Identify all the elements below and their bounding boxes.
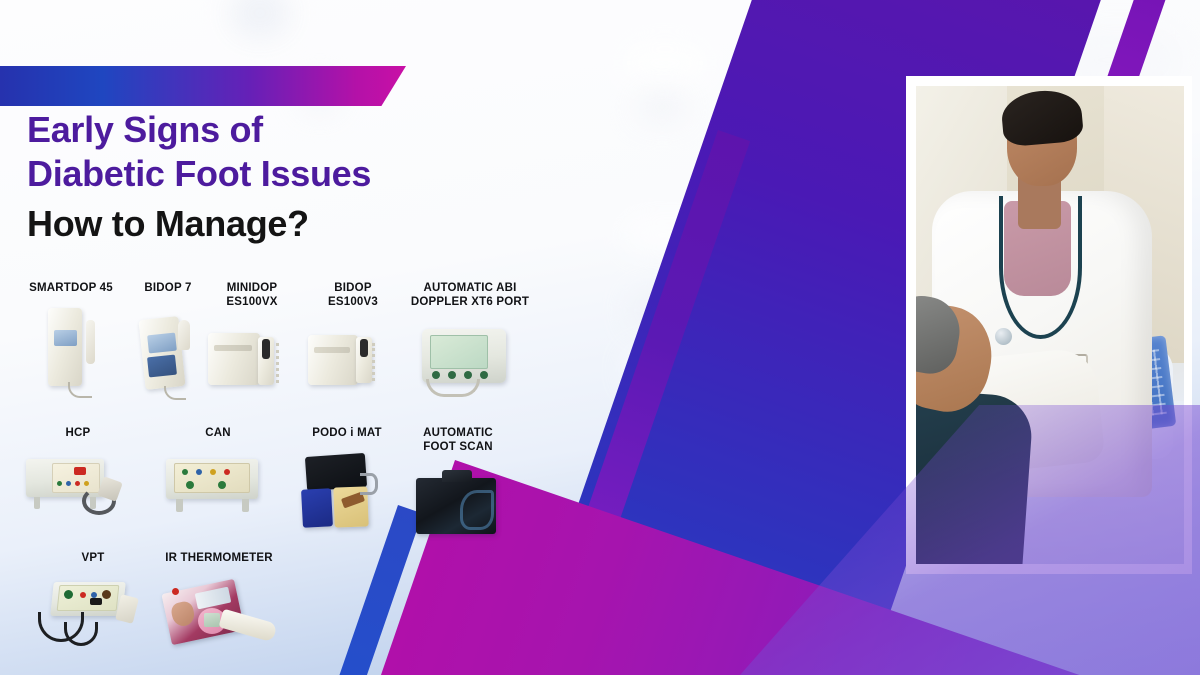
product-item[interactable]: AUTOMATIC FOOT SCAN (398, 427, 518, 542)
product-image-minidop-es100vx (196, 315, 308, 403)
background-blur-shape (620, 40, 710, 86)
product-image-can (156, 447, 280, 529)
product-image-abi-doppler-xt6 (396, 315, 544, 401)
stethoscope-icon (999, 196, 1082, 339)
background-blur-shape (230, 0, 290, 38)
product-item[interactable]: IR THERMOMETER (146, 552, 292, 656)
product-label: SMARTDOP 45 (12, 282, 130, 296)
product-label: CAN (156, 427, 280, 441)
product-item[interactable]: MINIDOP ES100VX (196, 282, 308, 403)
product-image-vpt (34, 572, 152, 656)
product-item[interactable]: PODO i MAT (292, 427, 402, 529)
product-item[interactable]: SMARTDOP 45 (12, 282, 130, 404)
headline-line-3: How to Manage? (27, 201, 371, 248)
patient-torso (916, 387, 1035, 564)
product-gallery: SMARTDOP 45 BIDOP 7 (0, 282, 560, 667)
product-label: BIDOP ES100V3 (298, 282, 408, 309)
headline-line-1: Early Signs of (27, 108, 371, 152)
product-label: PODO i MAT (292, 427, 402, 441)
product-row: SMARTDOP 45 BIDOP 7 (0, 282, 560, 427)
product-label: HCP (22, 427, 134, 441)
header-accent-bar (0, 66, 406, 106)
product-label: AUTOMATIC ABI DOPPLER XT6 PORT (396, 282, 544, 309)
product-image-podo-i-mat (292, 447, 402, 529)
page-title: Early Signs of Diabetic Foot Issues How … (27, 108, 371, 248)
product-label: VPT (34, 552, 152, 566)
poster-canvas: Early Signs of Diabetic Foot Issues How … (0, 0, 1200, 675)
hero-photo (916, 86, 1184, 564)
headline-line-2: Diabetic Foot Issues (27, 152, 371, 196)
product-image-hcp (22, 447, 134, 529)
product-item[interactable]: HCP (22, 427, 134, 529)
product-row: VPT IR THERMOMETER (0, 552, 560, 667)
product-image-ir-thermometer (146, 572, 292, 656)
product-label: AUTOMATIC FOOT SCAN (398, 427, 518, 454)
product-image-bidop-es100v3 (298, 315, 408, 403)
product-item[interactable]: AUTOMATIC ABI DOPPLER XT6 PORT (396, 282, 544, 401)
product-item[interactable]: VPT (34, 552, 152, 656)
doctor-hair (1000, 87, 1085, 146)
product-label: IR THERMOMETER (146, 552, 292, 566)
product-item[interactable]: CAN (156, 427, 280, 529)
product-image-smartdop-45 (12, 302, 130, 404)
background-blur-shape (636, 92, 688, 122)
product-row: HCP CAN (0, 427, 560, 552)
product-image-automatic-foot-scan (398, 460, 518, 542)
product-label: MINIDOP ES100VX (196, 282, 308, 309)
product-item[interactable]: BIDOP ES100V3 (298, 282, 408, 403)
hero-photo-frame (906, 76, 1192, 574)
